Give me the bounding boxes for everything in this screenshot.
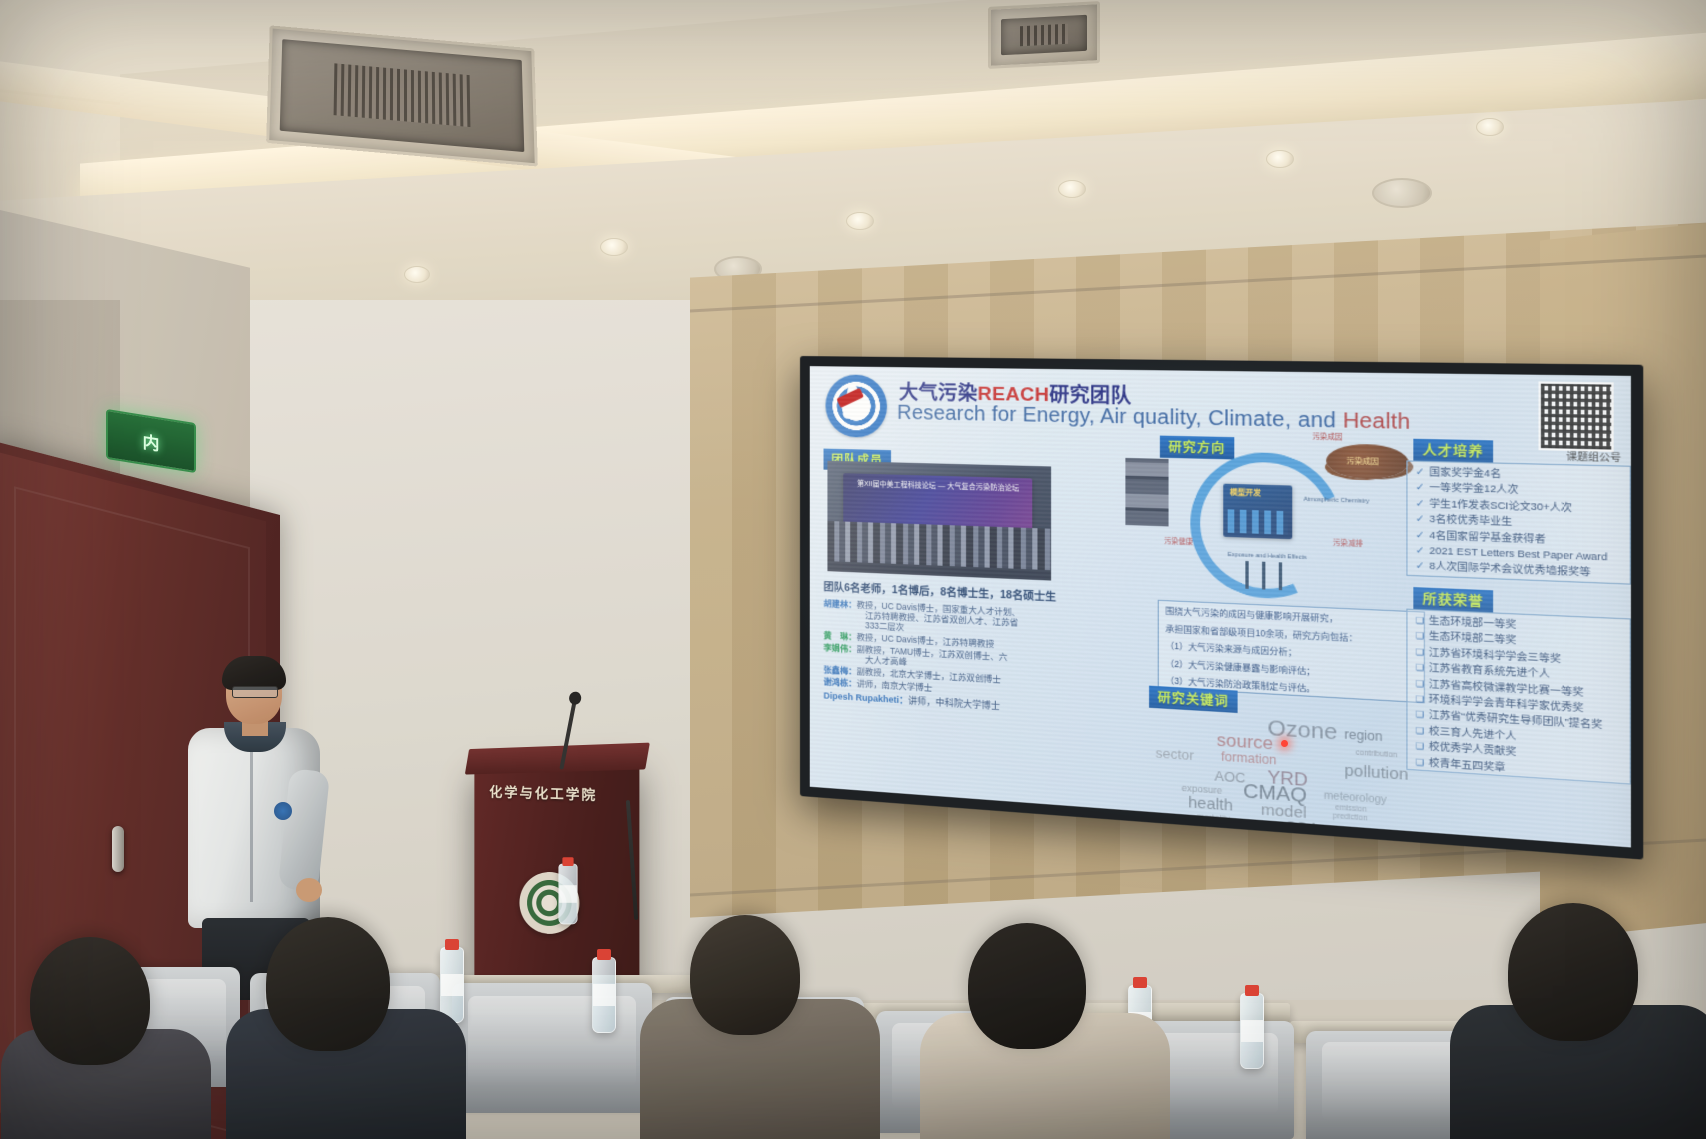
- member-detail: 讲师，中科院大学博士: [908, 695, 1000, 711]
- check-icon: ✓: [1416, 545, 1425, 556]
- keyword-term: mortality: [1197, 811, 1230, 823]
- water-bottle: [592, 957, 616, 1033]
- audience-area: [0, 879, 1706, 1139]
- checkbox-icon: ❑: [1416, 741, 1424, 751]
- list-item-label: 4名国家留学基金获得者: [1429, 529, 1545, 544]
- check-icon: ✓: [1416, 466, 1425, 477]
- cycle-label-cause: 污染成因: [1313, 430, 1343, 441]
- cloud-label: 污染成因: [1347, 456, 1379, 468]
- podium-top: [465, 743, 650, 775]
- honors-list: ❑生态环境部一等奖❑生态环境部二等奖❑江苏省环境科学学会三等奖❑江苏省教育系统先…: [1416, 613, 1631, 784]
- keyword-term: sector: [1156, 745, 1195, 763]
- downlight: [846, 212, 874, 230]
- presenter-badge: [274, 802, 292, 820]
- member-name: 谢鸿栋：: [824, 676, 857, 688]
- cycle-photo-thumbnails: [1125, 458, 1168, 527]
- keyword-term: meteorology: [1324, 790, 1387, 806]
- qr-caption: 课题组公号: [1566, 449, 1621, 465]
- exit-sign-label: 内: [143, 427, 160, 455]
- audience-head: [30, 937, 150, 1065]
- pollution-cloud-icon: 污染成因: [1326, 443, 1409, 480]
- list-item-label: 学生1作发表SCI论文30+人次: [1429, 498, 1572, 513]
- checkbox-icon: ❑: [1416, 663, 1424, 673]
- checkbox-icon: ❑: [1416, 678, 1424, 688]
- seat: [452, 983, 652, 1113]
- list-item-label: 生态环境部一等奖: [1429, 615, 1517, 630]
- projection-screen: 大气污染REACH研究团队 Research for Energy, Air q…: [800, 356, 1643, 860]
- presentation-slide: 大气污染REACH研究团队 Research for Energy, Air q…: [810, 366, 1631, 847]
- university-logo-icon: [825, 374, 887, 438]
- member-entry: Dipesh Rupakheti：讲师，中科院大学博士: [824, 691, 1001, 711]
- water-bottle: [440, 947, 464, 1023]
- talent-list: ✓国家奖学金4名✓一等奖学金12人次✓学生1作发表SCI论文30+人次✓3名校优…: [1416, 465, 1631, 583]
- member-name: 李娟伟：: [824, 642, 857, 654]
- keyword-word-cloud: Ozonesourceregioncontributionsectorforma…: [1149, 709, 1441, 834]
- water-bottle: [1240, 993, 1264, 1069]
- keyword-term: contribution: [1356, 749, 1398, 759]
- member-name: 黄 琳：: [824, 630, 857, 642]
- air-conditioner-vent-small: [988, 1, 1100, 69]
- member-name: Dipesh Rupakheti：: [824, 690, 909, 705]
- keyword-term: region: [1344, 727, 1382, 745]
- cycle-label-reduction: 污染减排: [1333, 536, 1363, 548]
- audience-head: [1508, 903, 1638, 1041]
- section-tag-talent: 人才培养: [1413, 439, 1493, 464]
- checkbox-icon: ❑: [1416, 710, 1424, 720]
- check-icon: ✓: [1416, 529, 1425, 540]
- downlight: [1058, 180, 1086, 198]
- audience-head: [266, 917, 390, 1051]
- check-icon: ✓: [1416, 482, 1425, 493]
- list-item-label: 3名校优秀毕业生: [1429, 514, 1512, 528]
- cycle-core-label: 模型开发: [1230, 487, 1261, 499]
- ceiling-speaker: [1372, 178, 1432, 208]
- presenter-glasses-icon: [232, 686, 278, 698]
- checkbox-icon: ❑: [1416, 694, 1424, 704]
- member-name: 胡建林：: [824, 598, 857, 610]
- downlight: [600, 238, 628, 256]
- research-cycle-diagram: 模型开发 污染成因 污染成因 污染减排 污染健康 Atmospheric Che…: [1171, 434, 1407, 602]
- lecture-hall-photo: 内 大气污染REACH研究团队 Research for Energy, Air…: [0, 0, 1706, 1139]
- people-figures-icon: [1239, 561, 1290, 591]
- laser-pointer-dot: [1281, 740, 1288, 747]
- checkbox-icon: ❑: [1416, 647, 1424, 657]
- podium-label: 化学与化工学院: [489, 782, 635, 807]
- audience-head: [968, 923, 1086, 1049]
- checkbox-icon: ❑: [1416, 631, 1424, 641]
- keyword-term: formation: [1221, 749, 1277, 768]
- photo-banner-text: 第XII届中美工程科技论坛 — 大气复合污染防治论坛: [857, 480, 1019, 494]
- checkbox-icon: ❑: [1416, 616, 1424, 626]
- team-group-photo: 第XII届中美工程科技论坛 — 大气复合污染防治论坛: [827, 461, 1051, 581]
- downlight: [1476, 118, 1504, 136]
- cycle-core-model: 模型开发: [1223, 484, 1292, 540]
- qr-code-icon: [1539, 381, 1614, 451]
- screen-surface: 大气污染REACH研究团队 Research for Energy, Air q…: [810, 366, 1631, 847]
- title-en-main: Research for Energy, Air quality, Climat…: [897, 402, 1343, 433]
- checkbox-icon: ❑: [1416, 726, 1424, 736]
- list-item-label: 生态环境部二等奖: [1429, 631, 1517, 646]
- check-icon: ✓: [1416, 497, 1425, 508]
- presenter-hair: [222, 656, 286, 690]
- keyword-term: prediction: [1333, 812, 1368, 822]
- keyword-term: AOC: [1214, 768, 1245, 786]
- door-handle[interactable]: [112, 826, 124, 872]
- list-item-label: 国家奖学金4名: [1429, 466, 1501, 479]
- check-icon: ✓: [1416, 560, 1425, 571]
- member-entry-cont: 333二层次: [865, 621, 904, 633]
- keyword-term: pollution: [1344, 761, 1408, 784]
- member-name: 张鑫梅：: [824, 664, 857, 676]
- title-en-health: Health: [1343, 409, 1411, 434]
- downlight: [404, 266, 430, 283]
- list-item-label: 校青年五四奖章: [1429, 757, 1506, 773]
- member-entry-cont: 大人才高峰: [865, 656, 907, 668]
- list-item-label: 校三育人先进个人: [1429, 725, 1517, 741]
- list-item-label: 一等奖学金12人次: [1429, 482, 1518, 495]
- air-conditioner-vent: [266, 25, 538, 166]
- checkbox-icon: ❑: [1416, 757, 1424, 767]
- list-item-label: 校优秀学人贡献奖: [1429, 741, 1517, 757]
- keyword-term: Ozone: [1268, 716, 1338, 746]
- check-icon: ✓: [1416, 513, 1425, 524]
- audience-head: [690, 915, 800, 1035]
- cycle-label-health: 污染健康: [1164, 535, 1193, 547]
- downlight: [1266, 150, 1294, 168]
